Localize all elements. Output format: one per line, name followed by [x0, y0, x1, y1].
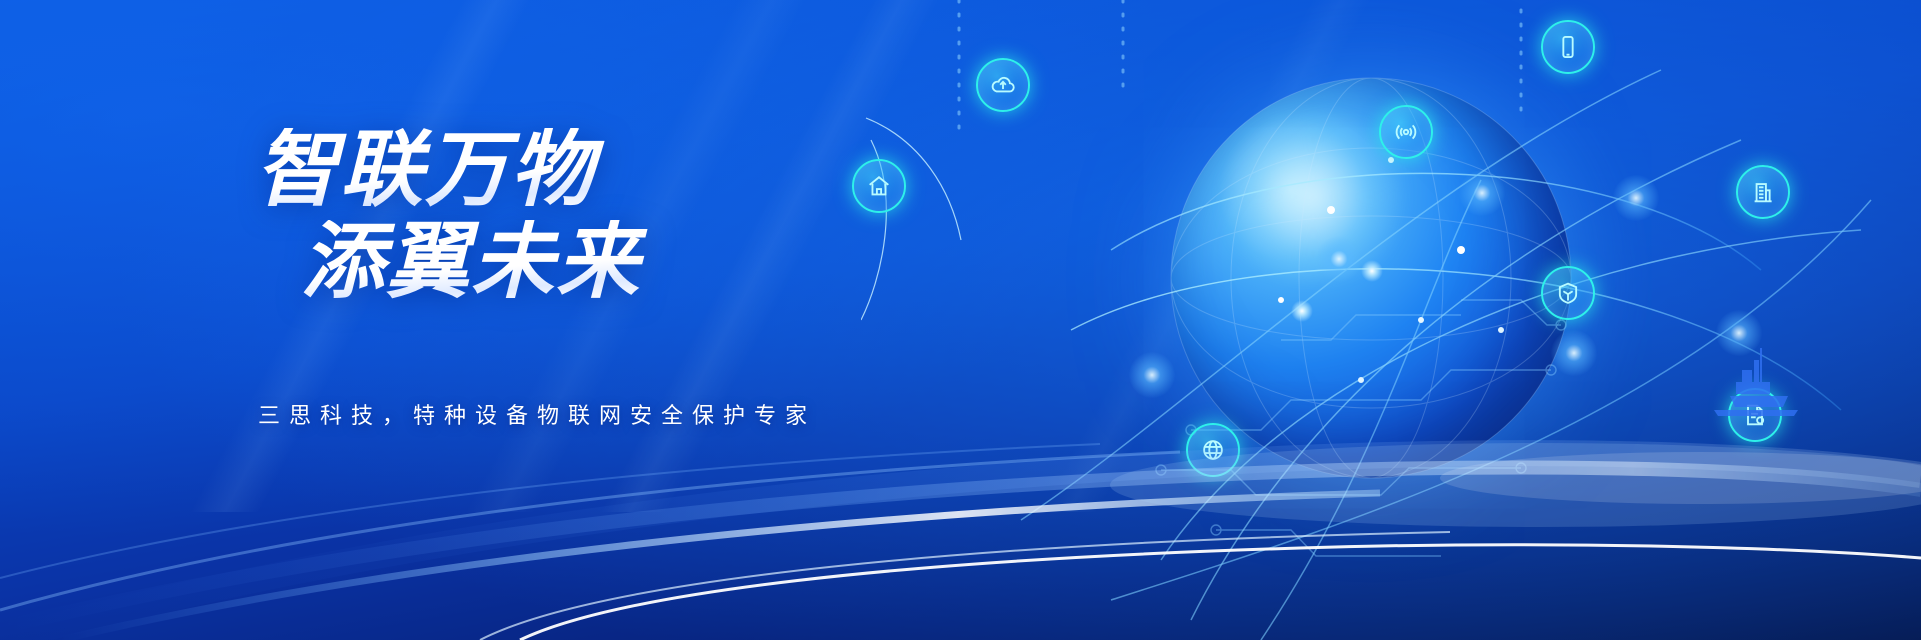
glow-spark — [1291, 300, 1313, 322]
glow-node — [1459, 170, 1505, 216]
glow-node — [1316, 236, 1362, 282]
glow-node — [1613, 175, 1659, 221]
globe-network-icon[interactable] — [1186, 423, 1240, 477]
headline-line-1: 智联万物 — [255, 128, 1015, 211]
subtitle-text: 三思科技，特种设备物联网安全保护专家 — [258, 398, 816, 430]
ship-silhouette — [1696, 330, 1816, 420]
mobile-phone-icon[interactable] — [1541, 20, 1595, 74]
building-icon[interactable] — [1736, 165, 1790, 219]
shield-icon[interactable] — [1541, 266, 1595, 320]
headline-block: 智联万物 添翼未来 — [255, 128, 1015, 303]
wifi-signal-icon[interactable] — [1379, 105, 1433, 159]
globe-network-graphic — [861, 0, 1921, 640]
glow-node — [1129, 352, 1175, 398]
dotted-signal-line — [959, 0, 1521, 140]
headline-line-2: 添翼未来 — [301, 220, 1015, 303]
hero-banner: 智联万物 添翼未来 三思科技，特种设备物联网安全保护专家 — [0, 0, 1921, 640]
glow-node — [1551, 330, 1597, 376]
glow-spark — [1361, 260, 1383, 282]
cloud-upload-icon[interactable] — [976, 58, 1030, 112]
